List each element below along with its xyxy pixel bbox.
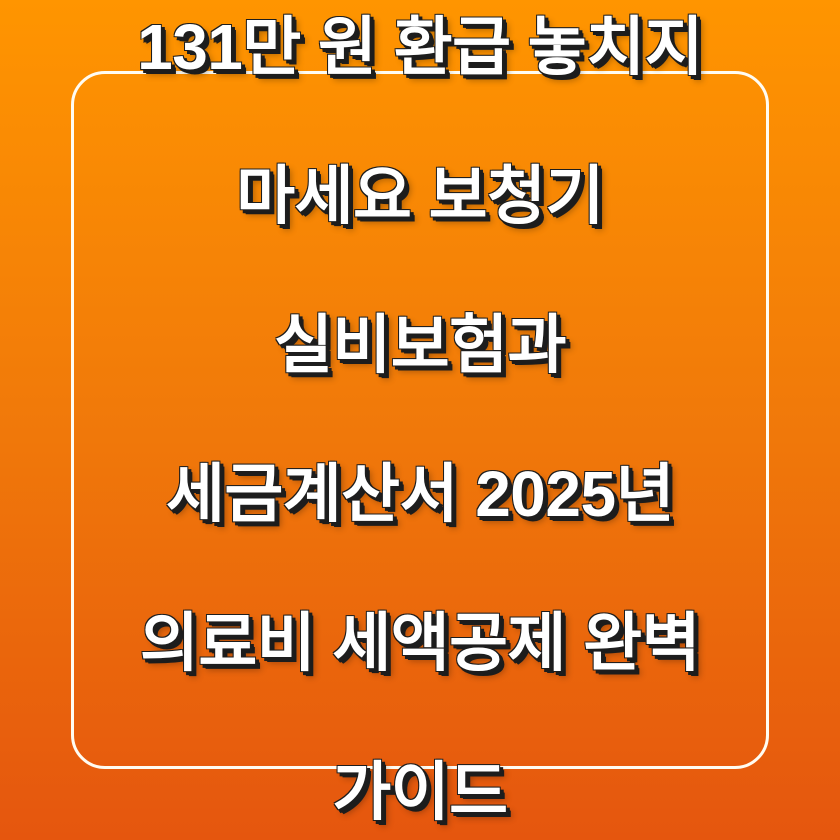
page-title: 131만 원 환급 놓치지 마세요 보청기 실비보험과 세금계산서 2025년 … <box>56 0 784 840</box>
headline-line-2: 마세요 보청기 <box>56 159 784 234</box>
headline-line-6: 가이드 <box>56 755 784 830</box>
thumbnail-canvas: 131만 원 환급 놓치지 마세요 보청기 실비보험과 세금계산서 2025년 … <box>0 0 840 840</box>
headline-line-3: 실비보험과 <box>56 308 784 383</box>
headline-line-5: 의료비 세액공제 완벽 <box>56 606 784 681</box>
headline-block: 131만 원 환급 놓치지 마세요 보청기 실비보험과 세금계산서 2025년 … <box>0 0 840 840</box>
headline-line-1: 131만 원 환급 놓치지 <box>56 10 784 85</box>
headline-line-4: 세금계산서 2025년 <box>56 457 784 532</box>
